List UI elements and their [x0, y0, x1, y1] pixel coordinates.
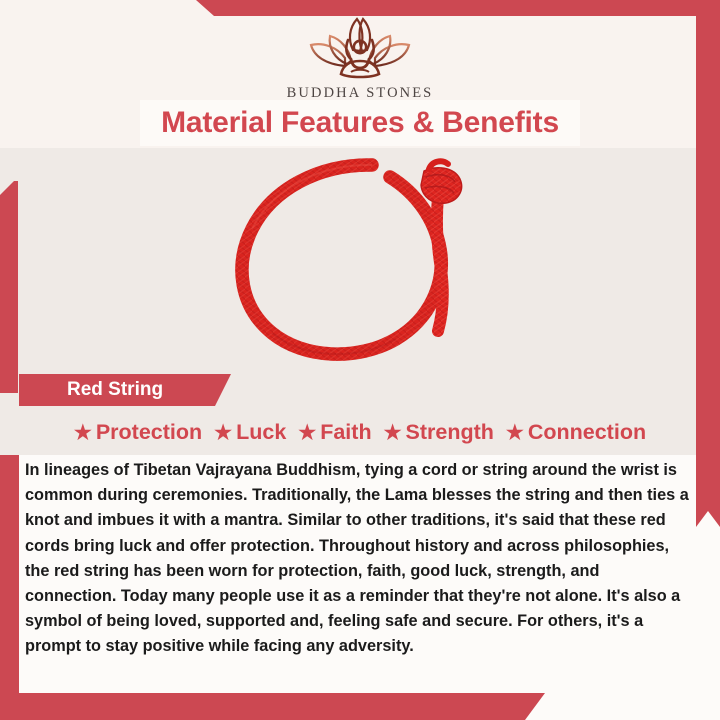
star-icon: ★ — [298, 423, 316, 443]
star-icon: ★ — [384, 423, 402, 443]
description-text: In lineages of Tibetan Vajrayana Buddhis… — [25, 458, 695, 660]
star-icon: ★ — [214, 423, 232, 443]
benefit-label: Connection — [528, 420, 646, 445]
benefit-item-strength: ★ Strength — [384, 420, 494, 445]
benefit-item-faith: ★ Faith — [298, 420, 371, 445]
product-name-label: Red String — [67, 379, 163, 401]
star-icon: ★ — [74, 423, 92, 443]
benefit-label: Luck — [236, 420, 286, 445]
decorative-left-lower-red-bar — [0, 455, 19, 720]
title-banner: Material Features & Benefits — [140, 100, 580, 146]
benefit-label: Protection — [96, 420, 202, 445]
benefit-item-protection: ★ Protection — [74, 420, 202, 445]
benefit-label: Strength — [406, 420, 494, 445]
page-title: Material Features & Benefits — [161, 106, 559, 140]
decorative-bottom-red-bar — [0, 693, 560, 720]
red-braided-string-bracelet-icon — [224, 157, 496, 365]
product-name-tag: Red String — [19, 374, 231, 406]
description-block: In lineages of Tibetan Vajrayana Buddhis… — [25, 458, 695, 660]
product-image-area — [0, 150, 720, 372]
infographic-page: BUDDHA STONES Material Features & Benefi… — [0, 0, 720, 720]
benefit-label: Faith — [320, 420, 371, 445]
benefit-item-connection: ★ Connection — [506, 420, 646, 445]
benefits-list: ★ Protection ★ Luck ★ Faith ★ Strength ★… — [0, 420, 720, 445]
brand-logo: BUDDHA STONES — [0, 14, 720, 102]
star-icon: ★ — [506, 423, 524, 443]
benefit-item-luck: ★ Luck — [214, 420, 286, 445]
lotus-meditation-icon — [301, 14, 419, 82]
